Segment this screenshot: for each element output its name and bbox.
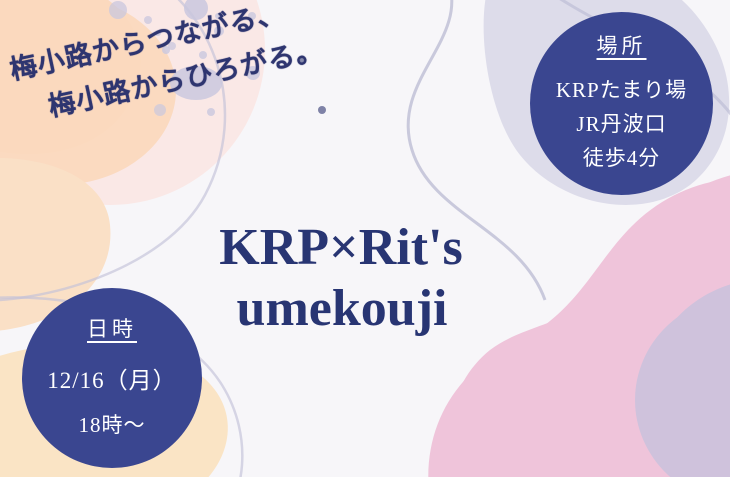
speckle-dot bbox=[109, 1, 127, 19]
speckle-blob bbox=[170, 66, 222, 100]
venue-badge: 場所 KRPたまり場 JR丹波口 徒歩4分 bbox=[530, 12, 713, 195]
date-badge-time: 18時〜 bbox=[79, 409, 146, 439]
speckle-dot bbox=[154, 104, 166, 116]
poster-canvas: 梅小路からつながる、 梅小路からひろがる。 KRP×Rit's umekouji… bbox=[0, 0, 730, 477]
speckle-dot-dark bbox=[299, 57, 306, 64]
speckle-dot bbox=[207, 108, 215, 116]
speckle-dot bbox=[199, 51, 207, 59]
speckle-dot bbox=[168, 42, 176, 50]
venue-badge-line-2: JR丹波口 bbox=[576, 108, 666, 138]
speckle-dot bbox=[215, 13, 221, 19]
speckle-dot-dark bbox=[318, 106, 326, 114]
date-badge-date: 12/16（月） bbox=[47, 361, 176, 395]
title-line-1: KRP×Rit's bbox=[0, 217, 730, 278]
speckle-dot bbox=[144, 16, 152, 24]
speckle-dot bbox=[246, 66, 260, 80]
date-badge: 日時 12/16（月） 18時〜 bbox=[22, 288, 202, 468]
speckle-dot bbox=[155, 30, 161, 36]
speckle-dot bbox=[248, 12, 256, 20]
venue-badge-heading: 場所 bbox=[597, 30, 647, 60]
date-badge-heading: 日時 bbox=[87, 313, 137, 343]
venue-badge-line-1: KRPたまり場 bbox=[556, 74, 687, 104]
venue-badge-line-3: 徒歩4分 bbox=[583, 142, 661, 172]
speckle-dot bbox=[214, 26, 224, 36]
